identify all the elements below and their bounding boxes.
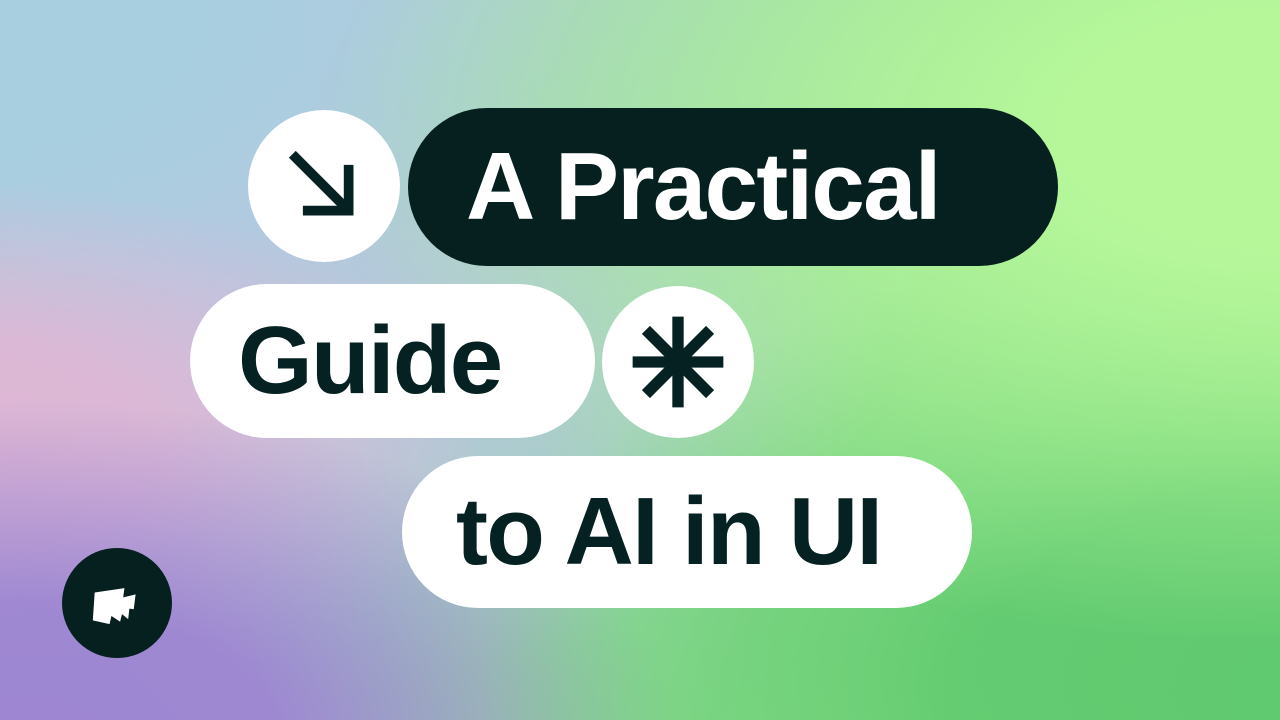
brand-logo-icon — [86, 572, 148, 634]
brand-logo-badge — [62, 548, 172, 658]
headline-pill-line3: to AI in UI — [402, 456, 972, 608]
asterisk-icon — [602, 286, 754, 438]
headline-line1-text: A Practical — [466, 139, 940, 235]
poster-stage: A Practical Guide to AI in UI — [0, 0, 1280, 720]
headline-line2-text: Guide — [238, 313, 501, 409]
headline-line3-text: to AI in UI — [456, 484, 881, 580]
headline-pill-line2: Guide — [190, 284, 595, 438]
headline-pill-line1: A Practical — [408, 108, 1058, 266]
arrow-down-right-icon — [248, 110, 400, 262]
